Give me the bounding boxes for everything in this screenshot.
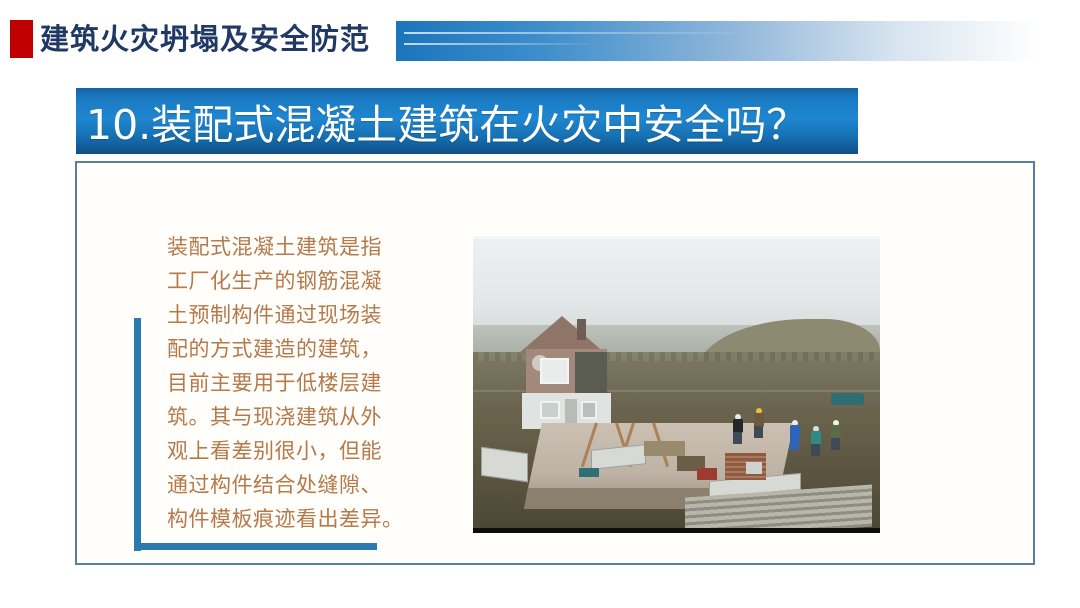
description-accent-vertical-bar — [134, 318, 141, 551]
photo-worker-torso-4 — [811, 431, 821, 445]
photo-worker-legs-3 — [790, 438, 799, 450]
banner-line-top — [404, 32, 734, 34]
photo-worker-legs-2 — [754, 426, 763, 438]
photo-debris-c — [697, 468, 717, 480]
photo-bottom-edge — [473, 528, 880, 533]
photo-parked-car — [831, 393, 864, 405]
slide-title-bar: 10.装配式混凝土建筑在火灾中安全吗？ — [76, 88, 858, 154]
header-title: 建筑火灾坍塌及安全防范 — [40, 19, 370, 59]
header-gradient-banner — [396, 21, 1038, 61]
photo-worker-torso-1 — [733, 419, 743, 433]
description-paragraph: 装配式混凝土建筑是指 工厂化生产的钢筋混凝 土预制构件通过现场装 配的方式建造的… — [167, 230, 429, 536]
slide-title-text: 10.装配式混凝土建筑在火灾中安全吗？ — [86, 91, 807, 151]
photo-debris-d — [579, 468, 599, 477]
photo-debris-a — [644, 441, 685, 456]
construction-site-photo — [473, 236, 880, 533]
photo-worker-torso-2 — [754, 413, 764, 427]
photo-worker-torso-5 — [831, 425, 841, 439]
photo-debris-e — [746, 462, 762, 474]
photo-worker-legs-1 — [733, 432, 742, 444]
photo-worker-torso-3 — [790, 425, 800, 439]
banner-line-bottom — [404, 43, 589, 45]
photo-panel-stack-left — [481, 447, 528, 482]
description-accent-horizontal-bar — [134, 543, 377, 550]
photo-house-door — [565, 399, 577, 423]
photo-worker-legs-4 — [811, 444, 820, 456]
photo-house-window-lower-left — [540, 401, 560, 419]
header-red-mark-icon — [10, 20, 33, 58]
photo-house-window-lower-right — [581, 401, 597, 419]
photo-house-chimney — [577, 319, 586, 340]
photo-top-edge — [473, 236, 880, 239]
photo-house-window-upper — [540, 358, 568, 385]
photo-worker-legs-5 — [831, 438, 840, 450]
photo-house-gable-window — [575, 352, 608, 400]
page-header: 建筑火灾坍塌及安全防范 — [0, 0, 1080, 78]
